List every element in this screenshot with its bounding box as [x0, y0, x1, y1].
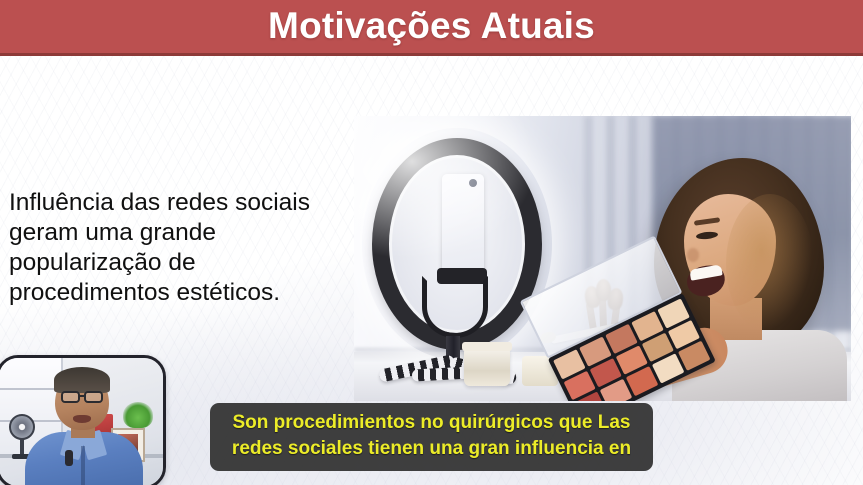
glasses-lens-right: [84, 391, 103, 403]
woman-hair-highlight: [726, 194, 814, 334]
fan-icon: [9, 414, 35, 440]
presentation-slide: Motivações Atuais Influência das redes s…: [0, 0, 863, 485]
microphone-icon: [65, 450, 73, 466]
caption-line-2: redes sociales tienen una gran influenci…: [224, 436, 639, 462]
cosmetic-jar-lid: [462, 342, 512, 351]
slide-title-bar: Motivações Atuais: [0, 0, 863, 56]
glasses-bridge: [80, 395, 84, 397]
slide-title: Motivações Atuais: [268, 7, 595, 44]
slide-body-text: Influência das redes sociais geram uma g…: [9, 188, 349, 308]
plant-icon: [123, 402, 153, 428]
cosmetic-jar: [464, 348, 510, 386]
presenter-shirt-placket: [81, 446, 85, 485]
phone-camera-icon: [469, 179, 477, 187]
presenter-webcam-inset[interactable]: [0, 355, 166, 485]
caption-line-1: Son procedimientos no quirúrgicos que La…: [224, 410, 639, 436]
glasses-icon: [61, 391, 80, 403]
webcam-window-bar: [0, 388, 61, 390]
presenter-hair: [54, 367, 110, 393]
woman-nose: [687, 248, 699, 262]
presenter-mouth: [73, 415, 91, 423]
subtitle-caption: Son procedimientos no quirúrgicos que La…: [210, 403, 653, 471]
cable-loop: [422, 276, 488, 338]
main-photo: [354, 116, 851, 401]
phone-icon: [442, 174, 484, 278]
